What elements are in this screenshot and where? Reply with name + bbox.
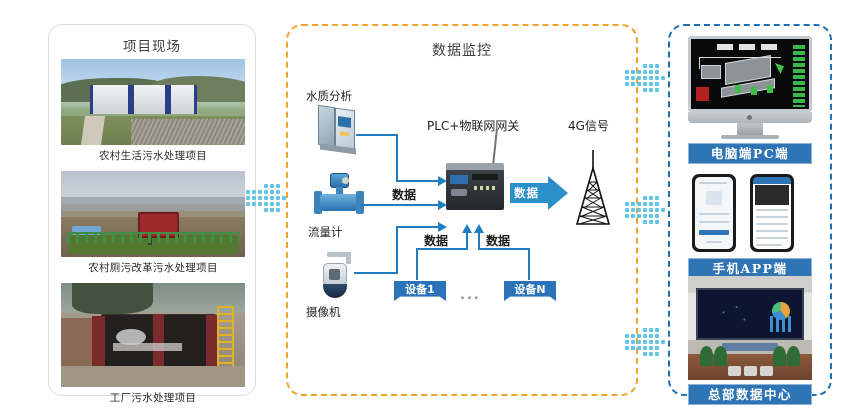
line-wqa-v <box>396 134 398 182</box>
panel-data-monitoring-title: 数据监控 <box>288 40 636 60</box>
label-flow-meter: 流量计 <box>308 224 343 240</box>
arrowhead-dev1 <box>462 224 472 233</box>
cell-tower-icon <box>565 150 621 226</box>
label-data-device1: 数据 <box>424 232 448 249</box>
label-plc-gateway: PLC+物联网网关 <box>427 117 519 134</box>
connector-site-to-monitoring <box>246 184 288 214</box>
line-wqa-in <box>396 180 440 182</box>
arrowhead-cam <box>438 222 447 232</box>
label-water-quality: 水质分析 <box>306 88 352 104</box>
terminal-item-datacenter: 总部数据中心 <box>670 276 830 405</box>
flow-meter-icon <box>312 173 364 219</box>
panel-project-site: 项目现场 农村生活污水处理项目 农村厕污改革污水处理项目 <box>48 24 256 396</box>
camera-icon <box>315 252 357 300</box>
connector-monitoring-to-pc <box>625 64 667 94</box>
project-photo-item: 农村生活污水处理项目 <box>61 59 245 163</box>
label-data-deviceN: 数据 <box>486 232 510 249</box>
panel-project-site-title: 项目现场 <box>49 35 255 55</box>
line-cam-h <box>354 272 398 274</box>
terminal-item-app: 手机APP端 <box>670 174 830 279</box>
water-quality-analyzer-icon <box>316 104 360 152</box>
label-4g-signal: 4G信号 <box>568 117 609 134</box>
line-dev1-v <box>416 248 418 280</box>
devices-ellipsis: ... <box>460 288 481 303</box>
diagram-canvas: 项目现场 农村生活污水处理项目 农村厕污改革污水处理项目 <box>0 0 850 416</box>
plc-gateway-icon <box>446 163 504 215</box>
line-devn-v <box>528 248 530 280</box>
terminal-caption-pc: 电脑端PC端 <box>688 143 812 164</box>
label-camera: 摄像机 <box>306 304 341 320</box>
phone-monitor-screen <box>750 174 794 252</box>
phone-login-screen <box>692 174 736 252</box>
label-data-sensor-to-gateway: 数据 <box>392 186 416 203</box>
connector-monitoring-to-datacenter <box>625 328 667 358</box>
line-wqa-h <box>356 134 398 136</box>
line-cam-v <box>396 226 398 274</box>
photo-rural-toilet-reform <box>61 171 245 257</box>
connector-monitoring-to-app <box>625 196 667 226</box>
arrow-gateway-to-tower: 数据 <box>510 176 568 210</box>
photo-factory-wastewater <box>61 283 245 387</box>
arrowhead-wqa <box>438 176 447 186</box>
photo-caption: 农村厕污改革污水处理项目 <box>61 260 245 275</box>
imac-scada-screen <box>688 36 812 139</box>
panel-terminals: 电脑端PC端 <box>668 24 832 396</box>
photo-rural-domestic-sewage <box>61 59 245 145</box>
photo-caption: 工厂污水处理项目 <box>61 390 245 405</box>
line-cam-in <box>396 226 440 228</box>
project-photo-item: 工厂污水处理项目 <box>61 283 245 393</box>
terminal-item-pc: 电脑端PC端 <box>670 36 830 164</box>
terminal-caption-datacenter: 总部数据中心 <box>688 384 812 405</box>
headquarters-data-center-photo <box>688 276 812 380</box>
arrowhead-devn <box>474 224 484 233</box>
label-data-gateway-to-tower: 数据 <box>514 185 539 201</box>
photo-caption: 农村生活污水处理项目 <box>61 148 245 163</box>
two-smartphones <box>688 174 812 254</box>
project-photo-item: 农村厕污改革污水处理项目 <box>61 171 245 275</box>
arrowhead-flow <box>438 200 447 210</box>
line-flow-in <box>360 204 440 206</box>
imac-display <box>688 36 812 112</box>
